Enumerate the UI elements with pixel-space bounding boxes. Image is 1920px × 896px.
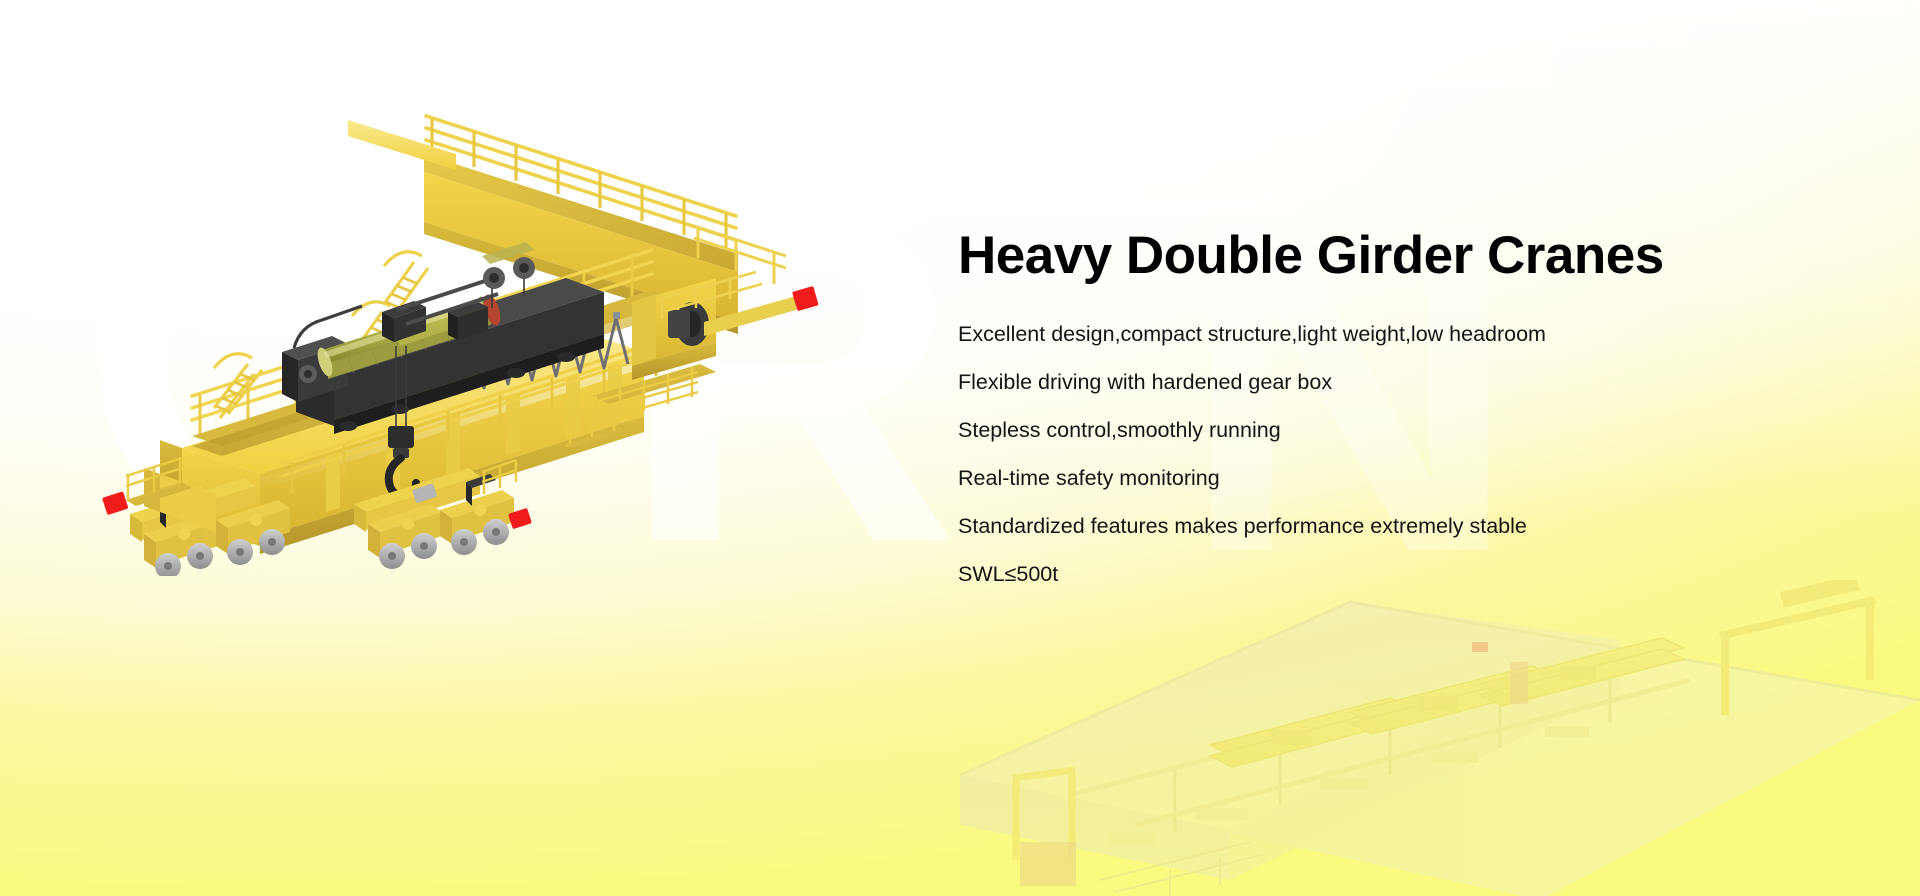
hero-text-column: Heavy Double Girder Cranes Excellent des… (958, 225, 1858, 586)
buffer-stop-red-left (102, 491, 128, 515)
feature-item: Real-time safety monitoring (958, 468, 1858, 490)
feature-item: Excellent design,compact structure,light… (958, 324, 1858, 346)
feature-list: Excellent design,compact structure,light… (958, 324, 1858, 586)
feature-item: Standardized features makes performance … (958, 516, 1858, 538)
feature-item: Flexible driving with hardened gear box (958, 372, 1858, 394)
factory-background-illustration (920, 580, 1920, 896)
double-girder-crane-illustration (96, 96, 856, 576)
feature-item: Stepless control,smoothly running (958, 420, 1858, 442)
feature-item: SWL≤500t (958, 564, 1858, 586)
hero-banner: C R N (0, 0, 1920, 896)
page-title: Heavy Double Girder Cranes (958, 225, 1858, 286)
